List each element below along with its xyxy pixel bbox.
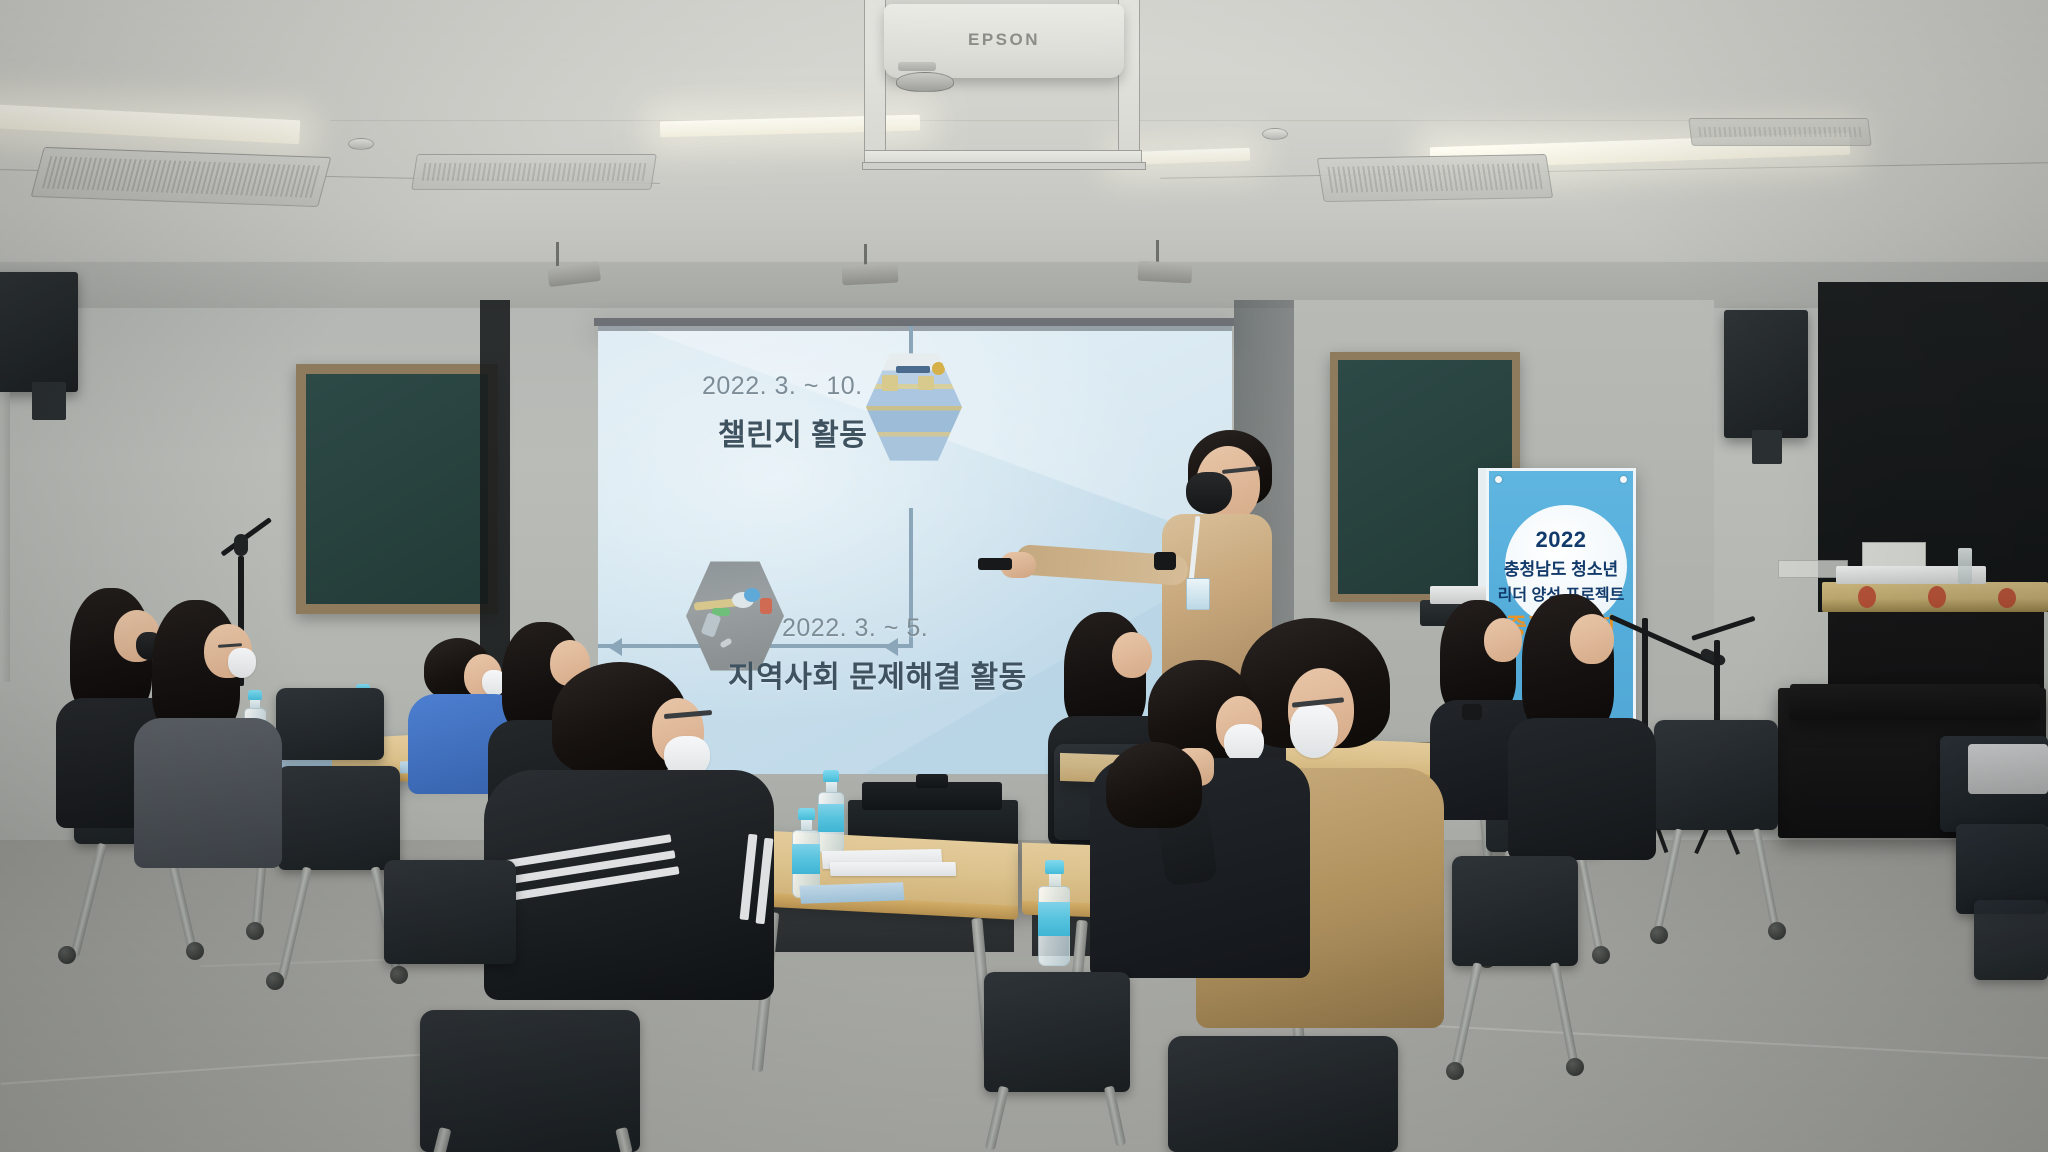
presenter-wristwatch [1154,552,1176,570]
stacked-chair-seat [1968,744,2048,794]
chair-caster [1446,1062,1464,1080]
bottle-label [792,844,820,874]
banner-pin [1495,476,1502,483]
banner-year: 2022 [1489,527,1633,553]
bottle-neck [826,782,837,792]
ceiling-sprinkler [348,138,374,150]
cloth-pattern [1858,586,1876,608]
bottle-neck [250,700,260,708]
ceiling-air-vent [1317,154,1553,202]
ceiling-spot-light [842,263,899,286]
water-bottle [1038,860,1070,966]
microphone-head [234,534,248,556]
chair-caster [186,942,204,960]
chair-caster [1566,1058,1584,1076]
stacked-chair [1974,900,2048,980]
chair-caster [390,966,408,984]
presenter-face-mask [1186,472,1232,514]
monitor-stand [916,774,948,788]
ceiling-air-vent [31,147,332,207]
thumbnail-detail [896,366,930,373]
cloth-pattern [1998,588,2016,608]
bottle-cap [1045,860,1064,874]
chair-caster [1592,946,1610,964]
slide-arrow-head [608,638,622,656]
person-torso [1508,718,1656,860]
wristwatch [1462,704,1482,720]
person-hair [1106,742,1202,828]
chair-caster [1768,922,1786,940]
chair-caster [266,972,284,990]
bottle-neck [1049,874,1061,886]
thumbnail-detail [701,612,722,637]
water-bottle [818,770,844,854]
bottle-label [818,804,844,832]
ceiling-air-vent [1688,118,1871,146]
chalkboard [296,364,498,614]
chair [384,860,516,964]
face-mask [1290,704,1338,758]
speaker-bracket [32,382,66,420]
bottle-cap [823,770,839,782]
slide-item-2-date: 2022. 3. ~ 5. [782,614,928,643]
slide-item-1-date: 2022. 3. ~ 10. [702,372,863,401]
bottle-cap [798,808,815,820]
bottle-on-piano [1958,548,1972,584]
projector-mount-bar [862,162,1146,170]
chair [278,766,400,870]
person-torso [134,718,282,868]
thumbnail-detail [918,376,934,390]
projector-brand-label: EPSON [884,30,1124,50]
projector-mount-rail [864,0,886,164]
slide-item-2-title: 지역사회 문제해결 활동 [728,652,1027,696]
table-caster [246,922,264,940]
chair [276,688,384,760]
wall-speaker [1724,310,1808,438]
chair-foreground [420,1010,640,1152]
chair-foreground [1168,1036,1398,1152]
ceiling-sprinkler [1262,128,1288,140]
screen-top-frame [594,318,1234,326]
photo-scene: EPSON [0,0,2048,1152]
chair [1654,720,1778,830]
pointer-remote [978,558,1012,570]
dark-doorway [1818,282,2048,612]
chair [1452,856,1578,966]
thumbnail-detail [744,588,760,602]
bottle-cap [248,690,262,700]
banner-line-1: 충청남도 청소년 [1489,555,1633,580]
cloth-pattern [1928,586,1946,608]
person-head [1484,618,1522,662]
ceiling-spot-light [1138,261,1193,284]
projector-body: EPSON [884,4,1124,78]
wall-outlet-box [1862,542,1926,568]
person-head [1570,614,1614,664]
wall-speaker [0,272,78,392]
thumbnail-detail [719,637,732,648]
wall-conduit [0,392,10,682]
person-head [1112,632,1152,678]
piano-cover-cloth [1822,582,2048,612]
projector-vent [898,62,936,71]
person-torso [484,770,774,1000]
speaker-bracket [1752,430,1782,464]
id-badge [1186,578,1210,610]
chair [984,972,1130,1092]
face-mask [228,648,256,678]
ceiling-air-vent [411,154,657,190]
slide-item-1-title: 챌린지 활동 [718,410,867,454]
thumbnail-detail [882,375,898,391]
bottle-neck [801,820,812,830]
wall-soffit [0,262,2048,308]
paper-on-table [830,862,957,876]
projector-lens [896,72,954,92]
banner-pin [1620,476,1627,483]
screen-top-band [598,326,1232,331]
bottle-label [1038,902,1070,936]
ceiling-line [330,120,1720,121]
piano-keyboard-lid [1790,684,2040,720]
chair-caster [58,946,76,964]
thumbnail-detail [760,598,772,614]
chair-caster [1650,926,1668,944]
paper-on-table [799,882,904,904]
